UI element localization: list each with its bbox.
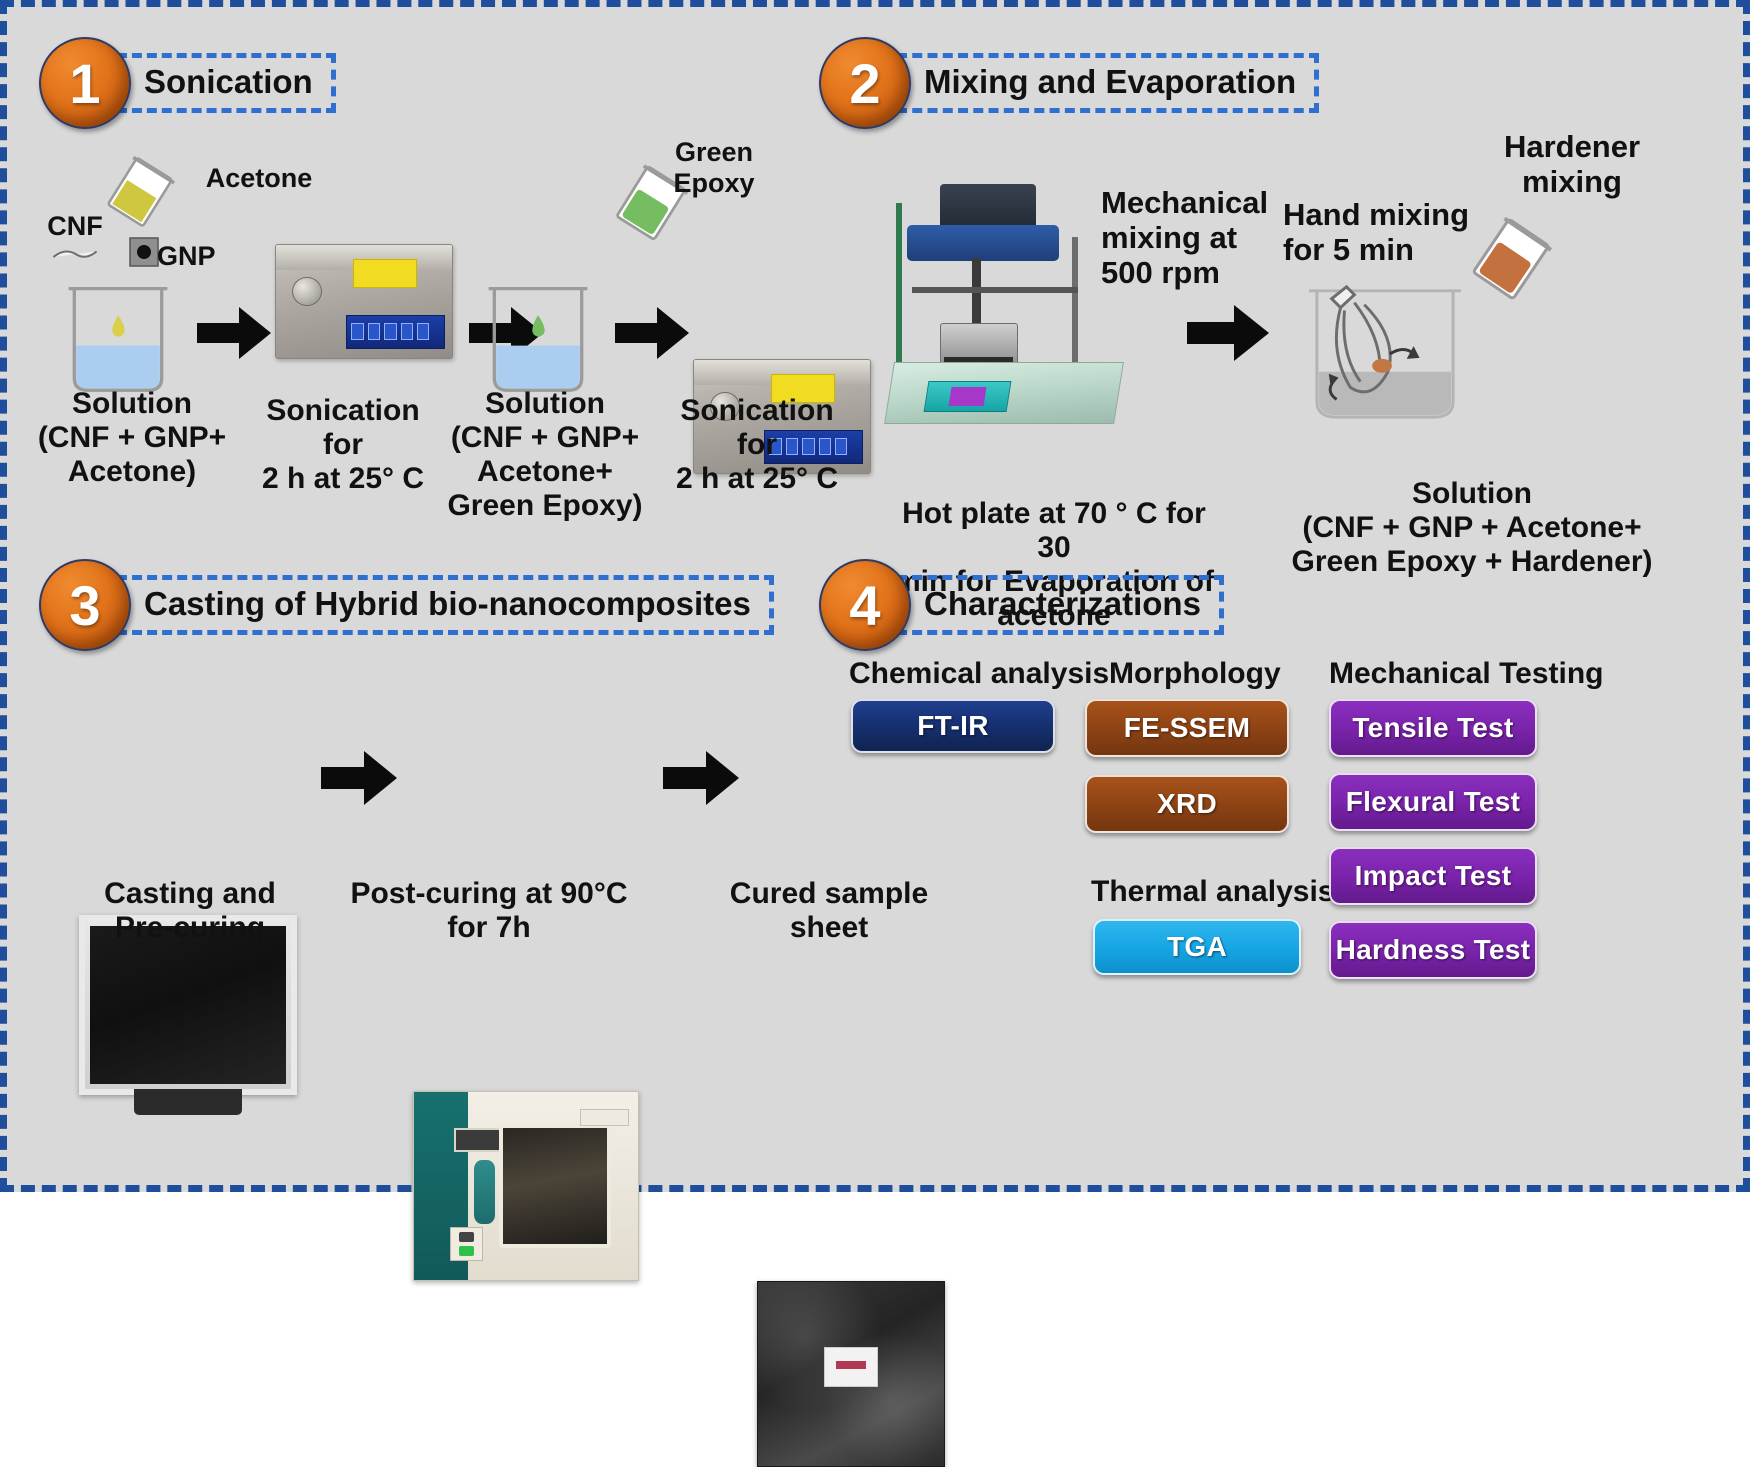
mechanical-mixer-photo [889,184,1119,424]
step-1-title: Sonication [117,53,336,114]
step-3-number: 3 [39,559,131,651]
arrow-right-5 [321,751,397,805]
arrow-right-6 [663,751,739,805]
characterization-button-tensile-test[interactable]: Tensile Test [1329,699,1537,757]
step-4-header: 4 Characterizations [819,559,1224,651]
gnp-particle-icon [129,237,159,267]
step-1-caption-1: Solution (CNF + GNP+ Acetone) [37,387,227,489]
cured-sample-sheet-photo [757,1281,945,1467]
green-epoxy-label: Green Epoxy [629,137,799,198]
solution-beaker-1-icon [61,279,175,397]
step-1-number: 1 [39,37,131,129]
cnf-fiber-icon [51,243,99,263]
step-1-caption-4: Sonication for 2 h at 25° C [659,394,855,496]
group-title-thermal-analysis: Thermal analysis [1091,875,1334,909]
characterization-button-xrd[interactable]: XRD [1085,775,1289,833]
acetone-label: Acetone [184,163,334,194]
step-2-title: Mixing and Evaporation [897,53,1319,114]
characterization-button-flexural-test[interactable]: Flexural Test [1329,773,1537,831]
step-3-caption-2: Post-curing at 90°C for 7h [339,877,639,945]
arrow-right-4 [1187,305,1269,361]
step-4-title: Characterizations [897,575,1224,636]
step-1-caption-3: Solution (CNF + GNP+ Acetone+ Green Epox… [435,387,655,523]
sonicator-bath-1 [275,244,453,359]
process-flow-poster: 1 Sonication Acetone CNF [0,0,1750,1192]
hardener-mixing-label: Hardener mixing [1457,129,1687,199]
characterization-button-impact-test[interactable]: Impact Test [1329,847,1537,905]
characterization-button-fe-ssem[interactable]: FE-SSEM [1085,699,1289,757]
curing-oven-photo [413,1091,639,1281]
step-3-caption-1: Casting and Pre-curing [81,877,299,945]
gnp-label: GNP [157,241,253,272]
group-title-chemical-analysis: Chemical analysis [849,657,1109,691]
characterization-button-tga[interactable]: TGA [1093,919,1301,975]
step-2-number: 2 [819,37,911,129]
cnf-label: CNF [34,211,116,242]
step-1-caption-2: Sonication for 2 h at 25° C [245,394,441,496]
step-3-header: 3 Casting of Hybrid bio-nanocomposites [39,559,774,651]
group-title-morphology: Morphology [1109,657,1281,691]
hand-mixing-beaker-icon [1295,277,1473,427]
step-4-number: 4 [819,559,911,651]
arrow-right-1 [197,307,271,359]
step-3-title: Casting of Hybrid bio-nanocomposites [117,575,774,636]
characterization-button-ft-ir[interactable]: FT-IR [851,699,1055,753]
step-1-header: 1 Sonication [39,37,336,129]
poster-inner: 1 Sonication Acetone CNF [29,29,1721,1163]
arrow-right-3 [615,307,689,359]
step-2-header: 2 Mixing and Evaporation [819,37,1319,129]
group-title-mechanical-testing: Mechanical Testing [1329,657,1604,691]
hardener-beaker-icon [1461,209,1561,309]
solution-beaker-2-icon [481,279,595,397]
step-2-caption-2: Solution (CNF + GNP + Acetone+ Green Epo… [1247,477,1697,579]
step-3-caption-3: Cured sample sheet [709,877,949,945]
characterization-button-hardness-test[interactable]: Hardness Test [1329,921,1537,979]
